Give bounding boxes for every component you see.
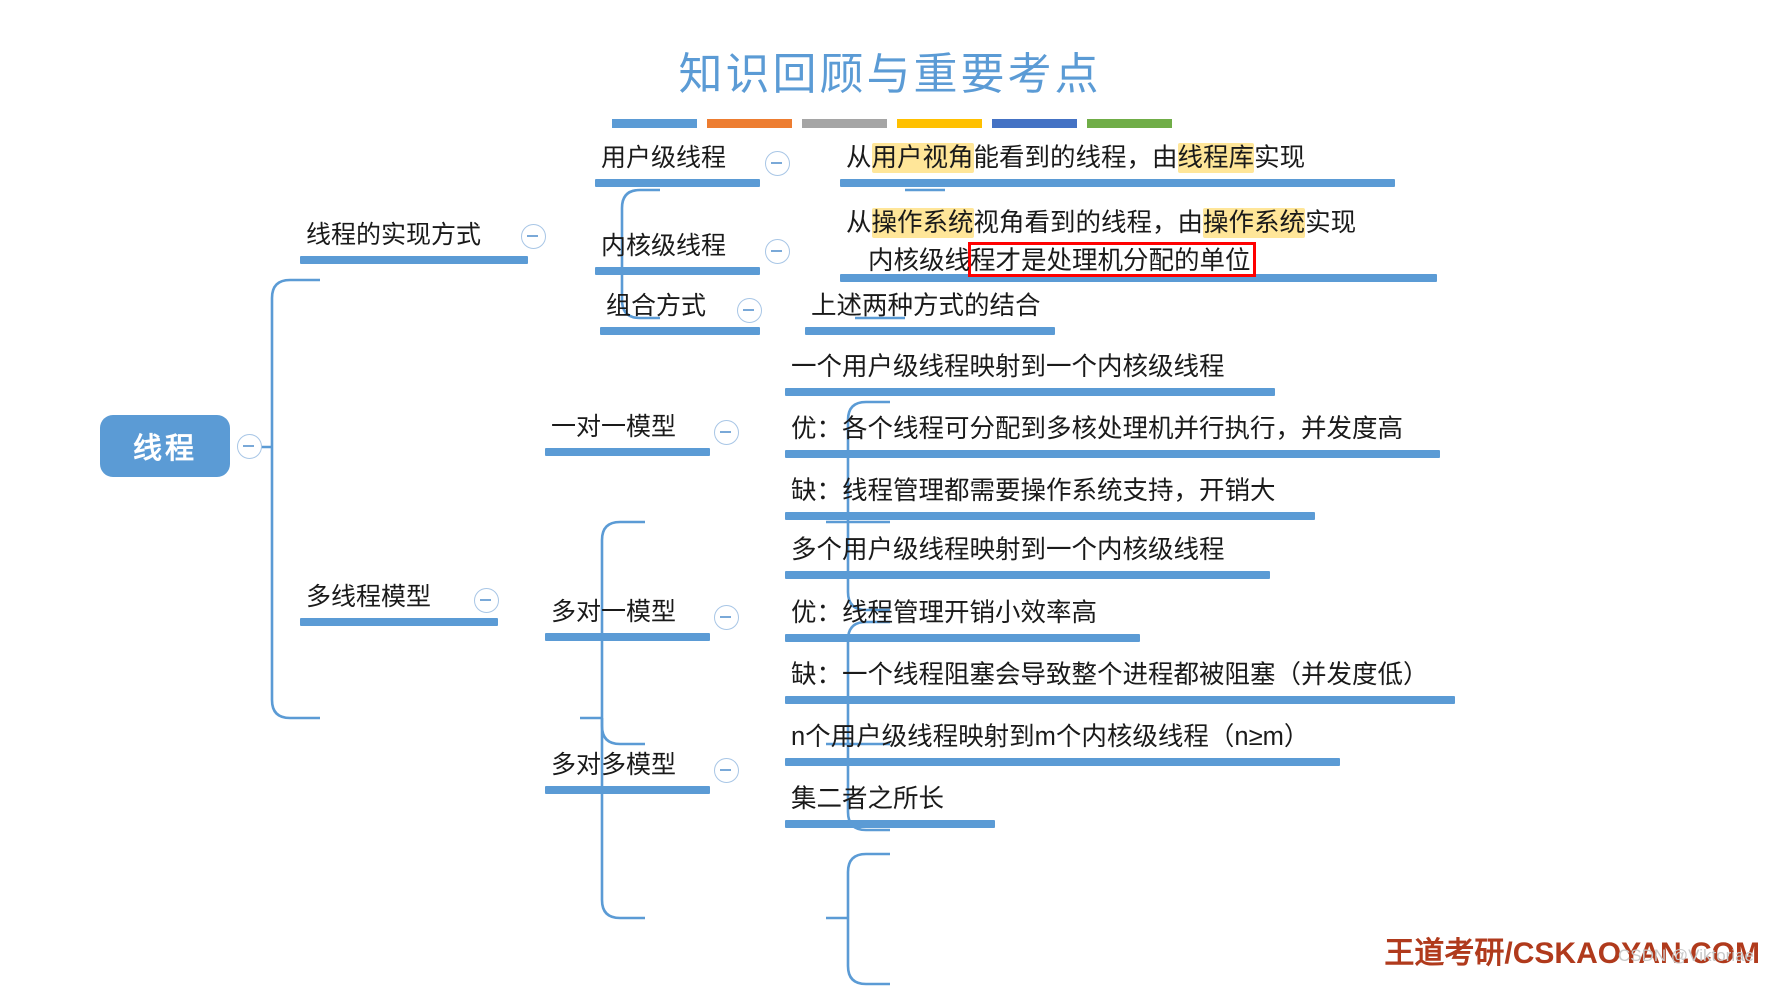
title-accent-bars [612,119,1172,128]
leaf-kernel-emphasis-text: 内核级线程才是处理机分配的单位 [840,244,1437,282]
underline-bar [785,512,1315,520]
underline-bar [785,571,1270,579]
leaf-many-to-many-item-1[interactable]: 集二者之所长 [785,782,995,828]
toggle-root[interactable] [237,434,262,459]
leaf-combined-approach-detail[interactable]: 上述两种方式的结合 [805,289,1055,335]
page-title: 知识回顾与重要考点 [0,38,1780,102]
underline-bar [300,618,498,626]
leaf-text: 优：线程管理开销小效率高 [785,596,1140,634]
toggle-user-level-thread[interactable] [765,151,790,176]
leaf-text: 多个用户级线程映射到一个内核级线程 [785,533,1270,571]
underline-bar [785,388,1275,396]
underline-bar [785,634,1140,642]
underline-bar [785,820,995,828]
underline-bar [600,327,760,335]
underline-bar [545,633,710,641]
leaf-text: 缺：一个线程阻塞会导致整个进程都被阻塞（并发度低） [785,658,1455,696]
node-thread-implementation[interactable]: 线程的实现方式 [300,218,528,264]
node-user-level-thread[interactable]: 用户级线程 [595,141,760,187]
leaf-many-to-one-item-0[interactable]: 多个用户级线程映射到一个内核级线程 [785,533,1270,579]
node-multithreading-models[interactable]: 多线程模型 [300,580,498,626]
node-multithreading-models-label: 多线程模型 [300,580,498,618]
node-user-level-thread-label: 用户级线程 [595,141,760,179]
leaf-one-to-one-item-0[interactable]: 一个用户级线程映射到一个内核级线程 [785,350,1275,396]
leaf-user-level-thread-text: 从用户视角能看到的线程，由线程库实现 [840,141,1395,179]
leaf-one-to-one-item-2[interactable]: 缺：线程管理都需要操作系统支持，开销大 [785,474,1315,520]
toggle-one-to-one-model[interactable] [714,420,739,445]
leaf-text: 集二者之所长 [785,782,995,820]
underline-bar [785,450,1440,458]
node-kernel-level-thread-label: 内核级线程 [595,229,760,267]
toggle-multithreading-models[interactable] [474,588,499,613]
node-kernel-level-thread[interactable]: 内核级线程 [595,229,760,275]
watermark-csdn: CSDN @Viktoriae [1618,946,1754,966]
bar-gray [802,119,887,128]
txt-post: 实现 [1305,209,1356,237]
txt-mid: 能看到的线程，由 [974,144,1178,172]
node-many-to-many-model-label: 多对多模型 [545,748,710,786]
root-node[interactable]: 线程 [100,415,230,477]
leaf-many-to-many-item-0[interactable]: n个用户级线程映射到m个内核级线程（n≥m） [785,720,1340,766]
node-one-to-one-model[interactable]: 一对一模型 [545,410,710,456]
underline-bar [545,786,710,794]
highlight-os-impl: 操作系统 [1203,208,1305,238]
toggle-combined-approach[interactable] [737,298,762,323]
node-many-to-one-model-label: 多对一模型 [545,595,710,633]
leaf-text: n个用户级线程映射到m个内核级线程（n≥m） [785,720,1340,758]
underline-bar [785,696,1455,704]
leaf-kernel-level-thread-text: 从操作系统视角看到的线程，由操作系统实现 [840,206,1437,244]
bar-yellow [897,119,982,128]
leaf-text: 缺：线程管理都需要操作系统支持，开销大 [785,474,1315,512]
bar-navy [992,119,1077,128]
leaf-combined-approach-text: 上述两种方式的结合 [805,289,1055,327]
underline-bar [595,267,760,275]
underline-bar [595,179,760,187]
leaf-many-to-one-item-2[interactable]: 缺：一个线程阻塞会导致整个进程都被阻塞（并发度低） [785,658,1455,704]
txt-pre: 从 [846,209,872,237]
underline-bar [300,256,528,264]
leaf-text: 优：各个线程可分配到多核处理机并行执行，并发度高 [785,412,1440,450]
txt-pre: 从 [846,144,872,172]
leaf-many-to-one-item-1[interactable]: 优：线程管理开销小效率高 [785,596,1140,642]
underline-bar [840,179,1395,187]
toggle-many-to-one-model[interactable] [714,605,739,630]
node-combined-approach-label: 组合方式 [600,289,760,327]
node-many-to-many-model[interactable]: 多对多模型 [545,748,710,794]
txt-mid: 视角看到的线程，由 [974,209,1204,237]
highlight-thread-library: 线程库 [1178,143,1255,173]
toggle-kernel-level-thread[interactable] [765,239,790,264]
underline-bar [545,448,710,456]
toggle-many-to-many-model[interactable] [714,758,739,783]
bar-green [1087,119,1172,128]
highlight-os-perspective: 操作系统 [872,208,974,238]
bar-blue [612,119,697,128]
underline-bar [805,327,1055,335]
mindmap-canvas: 知识回顾与重要考点 [0,0,1780,992]
txt-post: 实现 [1254,144,1305,172]
node-one-to-one-model-label: 一对一模型 [545,410,710,448]
leaf-user-level-thread-detail[interactable]: 从用户视角能看到的线程，由线程库实现 [840,141,1395,187]
highlight-user-perspective: 用户视角 [872,143,974,173]
node-thread-implementation-label: 线程的实现方式 [300,218,528,256]
underline-bar [785,758,1340,766]
node-many-to-one-model[interactable]: 多对一模型 [545,595,710,641]
toggle-thread-implementation[interactable] [521,224,546,249]
root-label: 线程 [133,425,197,467]
node-combined-approach[interactable]: 组合方式 [600,289,760,335]
leaf-text: 一个用户级线程映射到一个内核级线程 [785,350,1275,388]
leaf-one-to-one-item-1[interactable]: 优：各个线程可分配到多核处理机并行执行，并发度高 [785,412,1440,458]
leaf-kernel-level-thread-detail[interactable]: 从操作系统视角看到的线程，由操作系统实现 内核级线程才是处理机分配的单位 [840,206,1437,290]
bar-orange [707,119,792,128]
